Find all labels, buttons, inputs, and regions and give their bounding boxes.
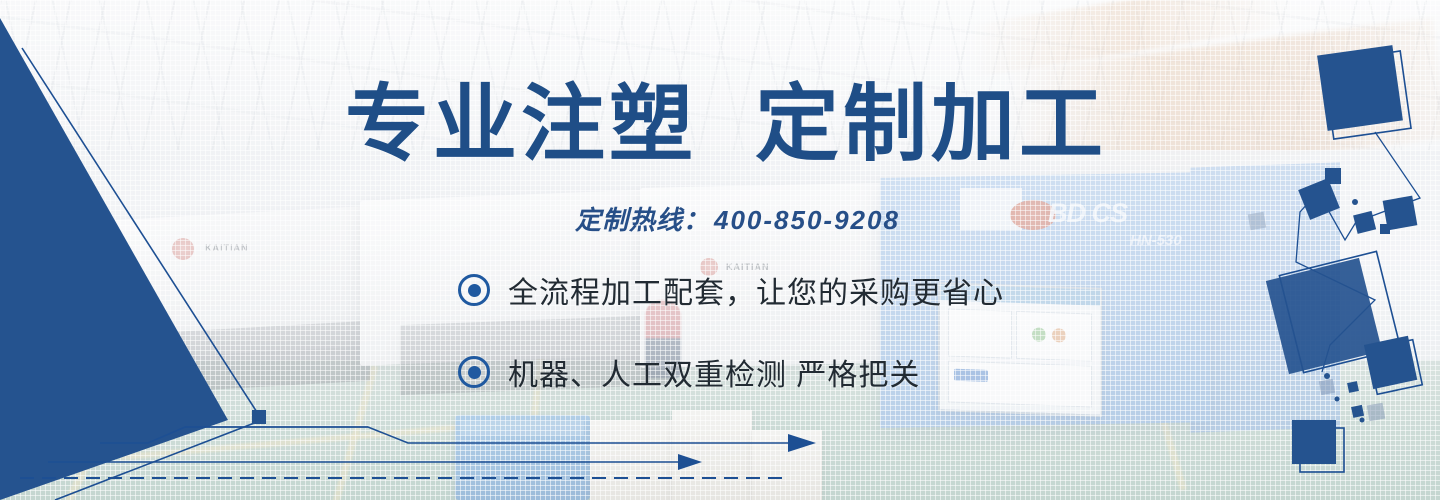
feature-item: 全流程加工配套，让您的采购更省心 [458,268,1004,312]
headline-part-1: 专业注塑 [345,82,697,166]
ring-dot-bullet-icon [458,356,490,388]
feature-item-label: 机器、人工双重检测 严格把关 [508,350,920,394]
headline-part-2: 定制加工 [755,82,1107,166]
hotline-label: 定制热线： [575,205,710,235]
feature-item: 机器、人工双重检测 严格把关 [458,350,1004,394]
hotline: 定制热线：400-850-9208 [575,200,900,237]
feature-item-label: 全流程加工配套，让您的采购更省心 [508,268,1004,312]
feature-list: 全流程加工配套，让您的采购更省心 机器、人工双重检测 严格把关 [458,268,1004,432]
banner-content: 专业注塑 定制加工 定制热线：400-850-9208 全流程加工配套，让您的采… [0,0,1440,500]
promo-banner: KAITIAN KAITIAN BD CS HN-530 [0,0,1440,500]
headline: 专业注塑 定制加工 [345,82,1107,166]
ring-dot-bullet-icon [458,274,490,306]
hotline-number: 400-850-9208 [714,205,900,235]
